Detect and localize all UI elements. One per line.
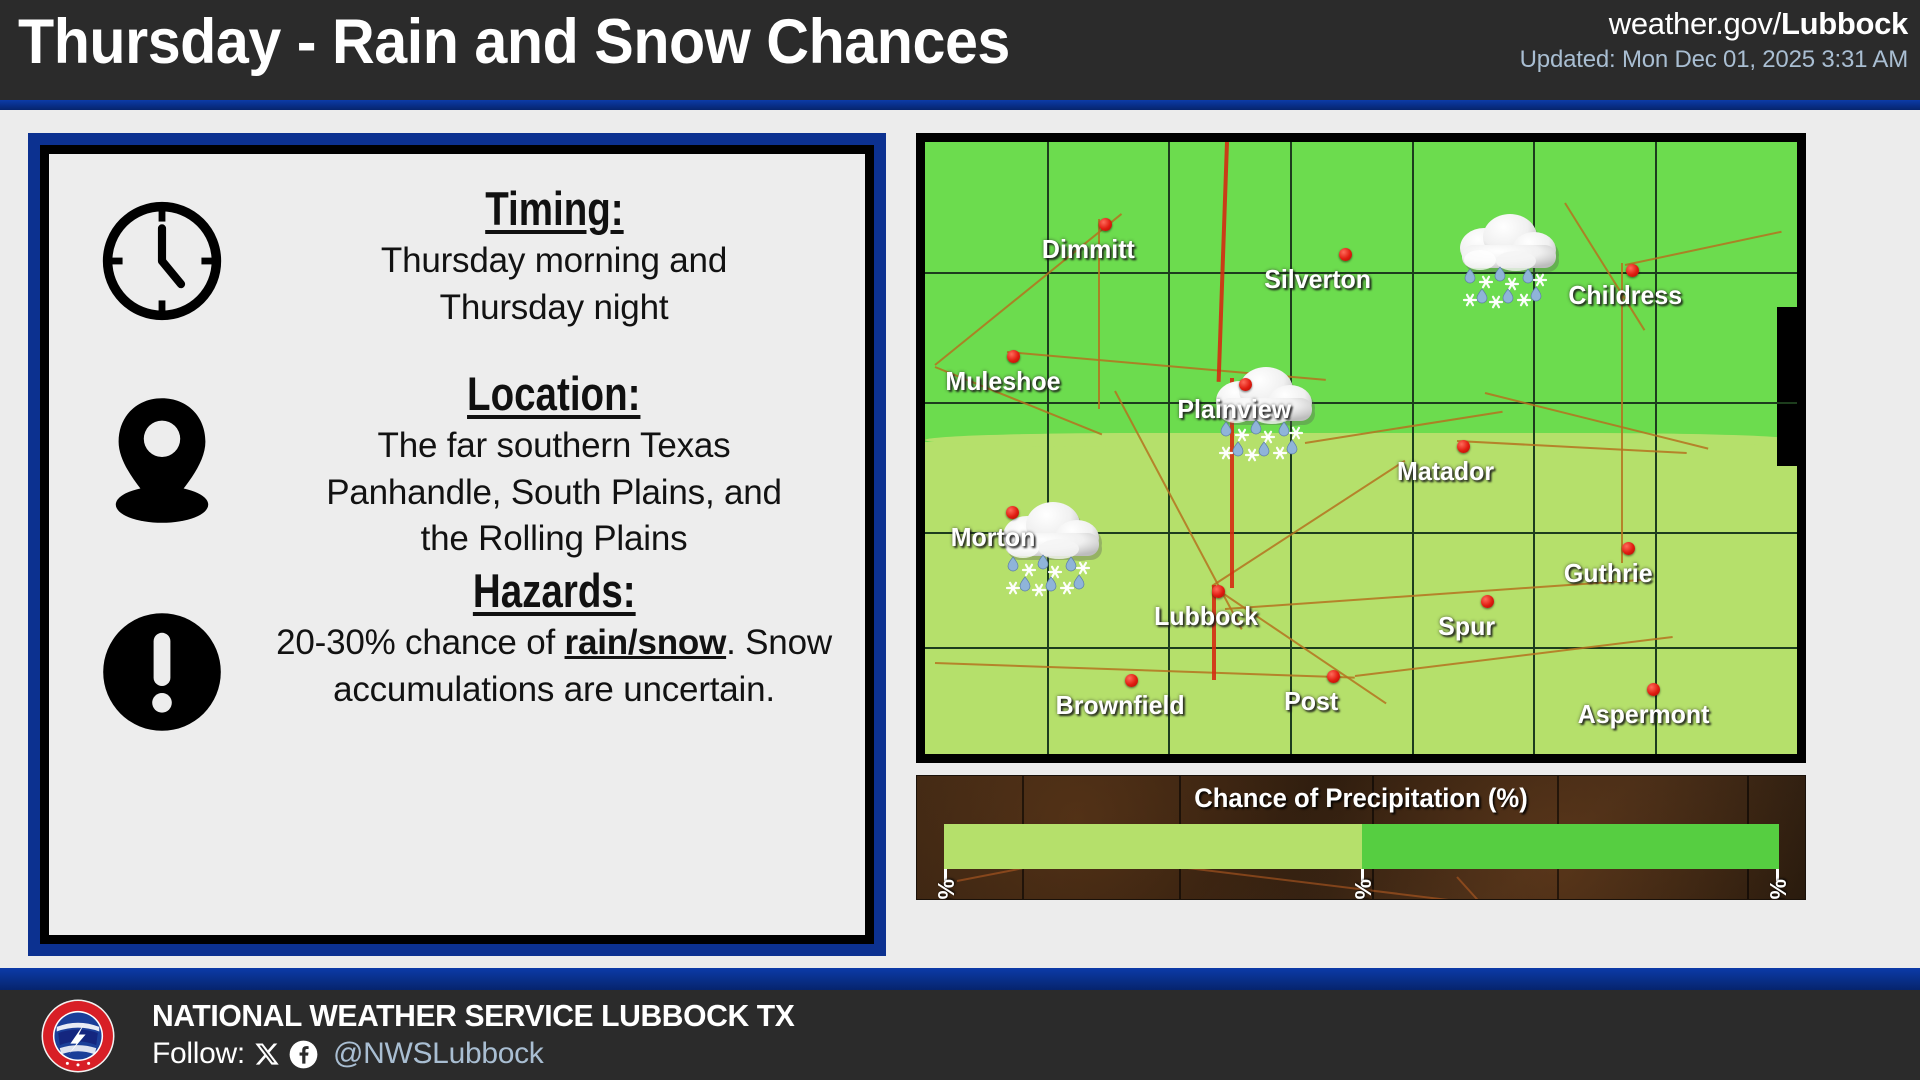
footer-accent-rule (0, 968, 1920, 990)
precip-colorbar: Chance of Precipitation (%) 20% 30% 40% (916, 775, 1806, 900)
city-label: Spur (1438, 611, 1495, 642)
county-line (1655, 142, 1657, 754)
city-label: Brownfield (1056, 690, 1185, 721)
social-handle[interactable]: @NWSLubbock (333, 1037, 544, 1071)
county-line (1412, 142, 1414, 754)
forecast-map[interactable]: DimmittSilvertonChildressMuleshoePlainvi… (925, 142, 1797, 754)
location-body: The far southern Texas Panhandle, South … (254, 423, 854, 562)
city-label: Silverton (1264, 264, 1371, 295)
colorbar-segment-30 (1362, 824, 1780, 869)
city-dot (1007, 350, 1020, 363)
map-pin-icon (92, 387, 232, 527)
info-panel-inner: Timing: Thursday morning and Thursday ni… (40, 145, 874, 944)
city-dot (1481, 595, 1494, 608)
facebook-icon[interactable] (289, 1040, 318, 1069)
location-body-line3: the Rolling Plains (254, 516, 854, 562)
location-heading-text: Location: (467, 367, 640, 420)
hazards-body: 20-30% chance of rain/snow. Snow accumul… (254, 620, 854, 712)
city-label: Morton (951, 522, 1036, 553)
website-prefix: weather.gov/ (1609, 6, 1781, 41)
city-dot (1006, 506, 1019, 519)
footer-bar: NATIONAL WEATHER SERVICE LUBBOCK TX Foll… (0, 990, 1920, 1080)
county-line (925, 647, 1797, 649)
timing-icon-slot (77, 176, 247, 346)
updated-timestamp: Updated: Mon Dec 01, 2025 3:31 AM (1520, 48, 1908, 72)
timing-heading: Timing: (485, 184, 623, 233)
nws-seal-icon (40, 998, 116, 1074)
city-dot (1125, 674, 1138, 687)
hazards-heading-text: Hazards: (473, 564, 636, 617)
location-icon-slot (77, 369, 247, 544)
rain-snow-mix-icon (1444, 204, 1574, 324)
city-label: Lubbock (1154, 601, 1258, 632)
colorbar-title: Chance of Precipitation (%) (939, 783, 1783, 814)
footer-office-name: NATIONAL WEATHER SERVICE LUBBOCK TX (152, 998, 794, 1034)
website-office: Lubbock (1781, 6, 1908, 41)
city-dot (1457, 440, 1470, 453)
city-dot (1327, 670, 1340, 683)
colorbar-label-20: 20% (933, 880, 960, 900)
city-dot (1099, 218, 1112, 231)
follow-label: Follow: (152, 1037, 245, 1071)
colorbar-label-40: 40% (1765, 880, 1792, 900)
hazards-heading: Hazards: (473, 566, 636, 615)
county-line (925, 402, 1797, 404)
city-dot (1622, 542, 1635, 555)
colorbar-bg-road (1456, 876, 1538, 900)
city-dot (1339, 248, 1352, 261)
page-title: Thursday - Rain and Snow Chances (18, 6, 1010, 78)
timing-body: Thursday morning and Thursday night (254, 238, 854, 330)
exclamation-icon (92, 602, 232, 742)
highway-line (1212, 585, 1216, 680)
x-twitter-icon[interactable] (254, 1041, 280, 1067)
city-label: Childress (1568, 280, 1682, 311)
county-line (1168, 142, 1170, 754)
city-label: Aspermont (1578, 699, 1710, 730)
colorbar-label-30: 30% (1350, 880, 1377, 900)
city-label: Post (1284, 686, 1338, 717)
map-edge-notch (1777, 307, 1797, 466)
colorbar-segment-20 (944, 824, 1362, 869)
colorbar-gradient (944, 824, 1779, 869)
hazards-text: Hazards: 20-30% chance of rain/snow. Sno… (254, 566, 854, 713)
header-meta: weather.gov/Lubbock Updated: Mon Dec 01,… (1520, 8, 1908, 72)
highway-line (1217, 142, 1229, 382)
info-panel: Timing: Thursday morning and Thursday ni… (28, 133, 886, 956)
timing-body-line2: Thursday night (254, 285, 854, 331)
city-dot (1626, 264, 1639, 277)
website-label: weather.gov/Lubbock (1520, 8, 1908, 39)
city-label: Guthrie (1564, 558, 1653, 589)
timing-body-line1: Thursday morning and (254, 238, 854, 284)
hazards-body-emphasis: rain/snow (565, 623, 727, 662)
forecast-map-frame: DimmittSilvertonChildressMuleshoePlainvi… (916, 133, 1806, 763)
header-bar: Thursday - Rain and Snow Chances weather… (0, 0, 1920, 100)
weather-graphic: Thursday - Rain and Snow Chances weather… (0, 0, 1920, 1080)
city-label: Plainview (1177, 394, 1291, 425)
clock-icon (94, 193, 230, 329)
city-label: Matador (1397, 456, 1494, 487)
city-dot (1647, 683, 1660, 696)
city-label: Dimmitt (1042, 234, 1135, 265)
hazards-body-prefix: 20-30% chance of (276, 623, 564, 662)
location-body-line2: Panhandle, South Plains, and (254, 470, 854, 516)
location-body-line1: The far southern Texas (254, 423, 854, 469)
city-label: Muleshoe (945, 366, 1060, 397)
timing-text: Timing: Thursday morning and Thursday ni… (254, 184, 854, 331)
location-text: Location: The far southern Texas Panhand… (254, 369, 854, 562)
timing-heading-text: Timing: (485, 182, 623, 235)
city-dot (1212, 585, 1225, 598)
footer-social: Follow: @NWSLubbock (152, 1037, 544, 1071)
road-line (1625, 231, 1782, 266)
city-dot (1239, 378, 1252, 391)
header-accent-rule (0, 100, 1920, 110)
location-heading: Location: (467, 369, 640, 418)
hazards-icon-slot (77, 584, 247, 759)
